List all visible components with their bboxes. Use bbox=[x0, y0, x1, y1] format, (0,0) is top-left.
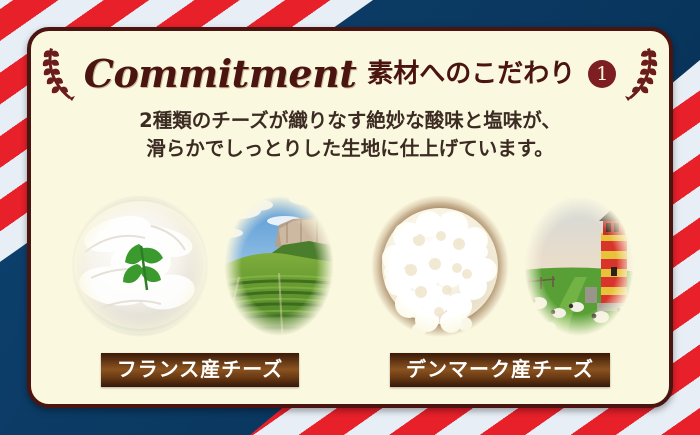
title-japanese: 素材へのこだわり bbox=[367, 61, 575, 87]
panel-france-images bbox=[50, 181, 350, 351]
step-number-badge: 1 bbox=[588, 60, 616, 88]
panel-france: フランス産チーズ bbox=[50, 181, 350, 387]
content-card: Commitment 素材へのこだわり 1 bbox=[27, 27, 673, 408]
subtitle-line-1: 2種類のチーズが織りなす絶妙な酸味と塩味が、 bbox=[31, 107, 669, 135]
title-english: Commitment bbox=[84, 55, 357, 93]
subtitle-line-2: 滑らかでしっとりした生地に仕上げています。 bbox=[31, 135, 669, 163]
cream-cheese-bowl-image bbox=[55, 182, 225, 350]
subtitle: 2種類のチーズが織りなす絶妙な酸味と塩味が、 滑らかでしっとりした生地に仕上げて… bbox=[31, 107, 669, 164]
panel-denmark: デンマーク産チーズ bbox=[350, 181, 650, 387]
promo-banner: Commitment 素材へのこだわり 1 bbox=[0, 0, 700, 435]
crumbled-cheese-bowl-image bbox=[355, 182, 525, 350]
panel-denmark-label: デンマーク産チーズ bbox=[390, 353, 610, 387]
header: Commitment 素材へのこだわり 1 bbox=[31, 45, 669, 103]
lighthouse-meadow-image bbox=[513, 185, 645, 347]
panel-denmark-images bbox=[350, 181, 650, 351]
laurel-branch-left-icon bbox=[42, 46, 76, 102]
laurel-branch-right-icon bbox=[624, 46, 658, 102]
french-vineyard-image bbox=[213, 185, 345, 347]
product-panels: フランス産チーズ bbox=[31, 181, 669, 387]
panel-france-label: フランス産チーズ bbox=[101, 353, 300, 387]
